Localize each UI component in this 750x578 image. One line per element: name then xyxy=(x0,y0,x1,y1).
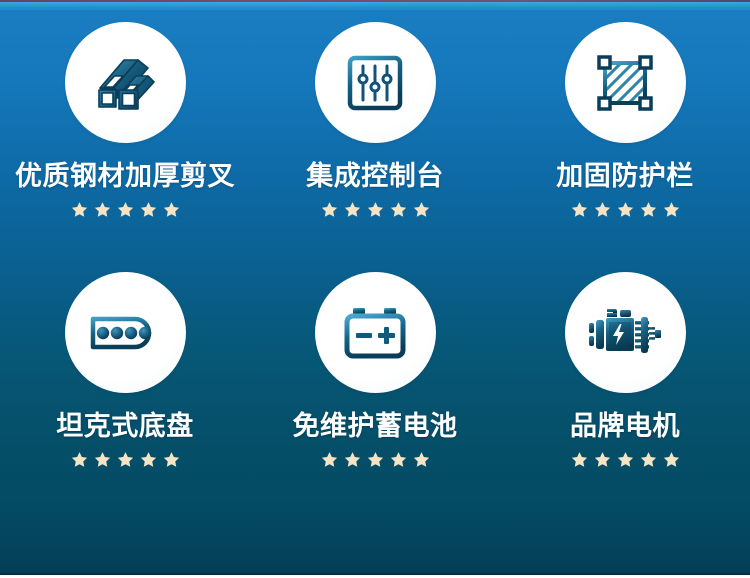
feature-label: 集成控制台 xyxy=(306,163,444,190)
star-icon xyxy=(390,201,407,218)
feature-label: 品牌电机 xyxy=(570,413,680,440)
feature-item-motor[interactable]: 品牌电机 xyxy=(500,272,750,522)
rating-stars xyxy=(71,201,180,218)
star-icon xyxy=(367,451,384,468)
star-icon xyxy=(117,451,134,468)
feature-label: 免维护蓄电池 xyxy=(293,413,458,440)
icon-circle xyxy=(315,22,436,143)
star-icon xyxy=(344,201,361,218)
rating-stars xyxy=(571,201,680,218)
icon-circle xyxy=(65,22,186,143)
icon-circle xyxy=(315,272,436,393)
electric-motor-icon xyxy=(587,303,663,363)
control-panel-sliders-icon xyxy=(344,52,406,114)
star-icon xyxy=(571,451,588,468)
star-icon xyxy=(321,201,338,218)
top-accent-line-edge xyxy=(0,8,750,10)
star-icon xyxy=(390,451,407,468)
star-icon xyxy=(117,201,134,218)
star-icon xyxy=(163,201,180,218)
star-icon xyxy=(663,451,680,468)
feature-banner: 优质钢材加厚剪叉 xyxy=(0,0,750,578)
star-icon xyxy=(594,201,611,218)
tank-track-chassis-icon xyxy=(89,307,161,359)
feature-item-chassis[interactable]: 坦克式底盘 xyxy=(0,272,250,522)
feature-item-steel-bars[interactable]: 优质钢材加厚剪叉 xyxy=(0,22,250,272)
star-icon xyxy=(140,451,157,468)
feature-label: 优质钢材加厚剪叉 xyxy=(15,163,235,190)
feature-item-control-panel[interactable]: 集成控制台 xyxy=(250,22,500,272)
star-icon xyxy=(94,201,111,218)
feature-label: 加固防护栏 xyxy=(556,163,694,190)
star-icon xyxy=(640,451,657,468)
feature-label: 坦克式底盘 xyxy=(56,413,194,440)
star-icon xyxy=(94,451,111,468)
star-icon xyxy=(413,201,430,218)
battery-icon xyxy=(342,305,408,361)
rating-stars xyxy=(571,451,680,468)
feature-grid: 优质钢材加厚剪叉 xyxy=(0,22,750,522)
star-icon xyxy=(640,201,657,218)
star-icon xyxy=(663,201,680,218)
star-icon xyxy=(617,201,634,218)
feature-item-guardrail[interactable]: 加固防护栏 xyxy=(500,22,750,272)
star-icon xyxy=(571,201,588,218)
star-icon xyxy=(71,451,88,468)
star-icon xyxy=(321,451,338,468)
icon-circle xyxy=(565,272,686,393)
reinforced-guardrail-icon xyxy=(593,51,657,115)
star-icon xyxy=(594,451,611,468)
star-icon xyxy=(71,201,88,218)
star-icon xyxy=(413,451,430,468)
icon-circle xyxy=(65,272,186,393)
icon-circle xyxy=(565,22,686,143)
rating-stars xyxy=(71,451,180,468)
steel-bars-icon xyxy=(90,48,160,118)
star-icon xyxy=(140,201,157,218)
star-icon xyxy=(367,201,384,218)
star-icon xyxy=(163,451,180,468)
rating-stars xyxy=(321,201,430,218)
feature-item-battery[interactable]: 免维护蓄电池 xyxy=(250,272,500,522)
star-icon xyxy=(617,451,634,468)
star-icon xyxy=(344,451,361,468)
rating-stars xyxy=(321,451,430,468)
